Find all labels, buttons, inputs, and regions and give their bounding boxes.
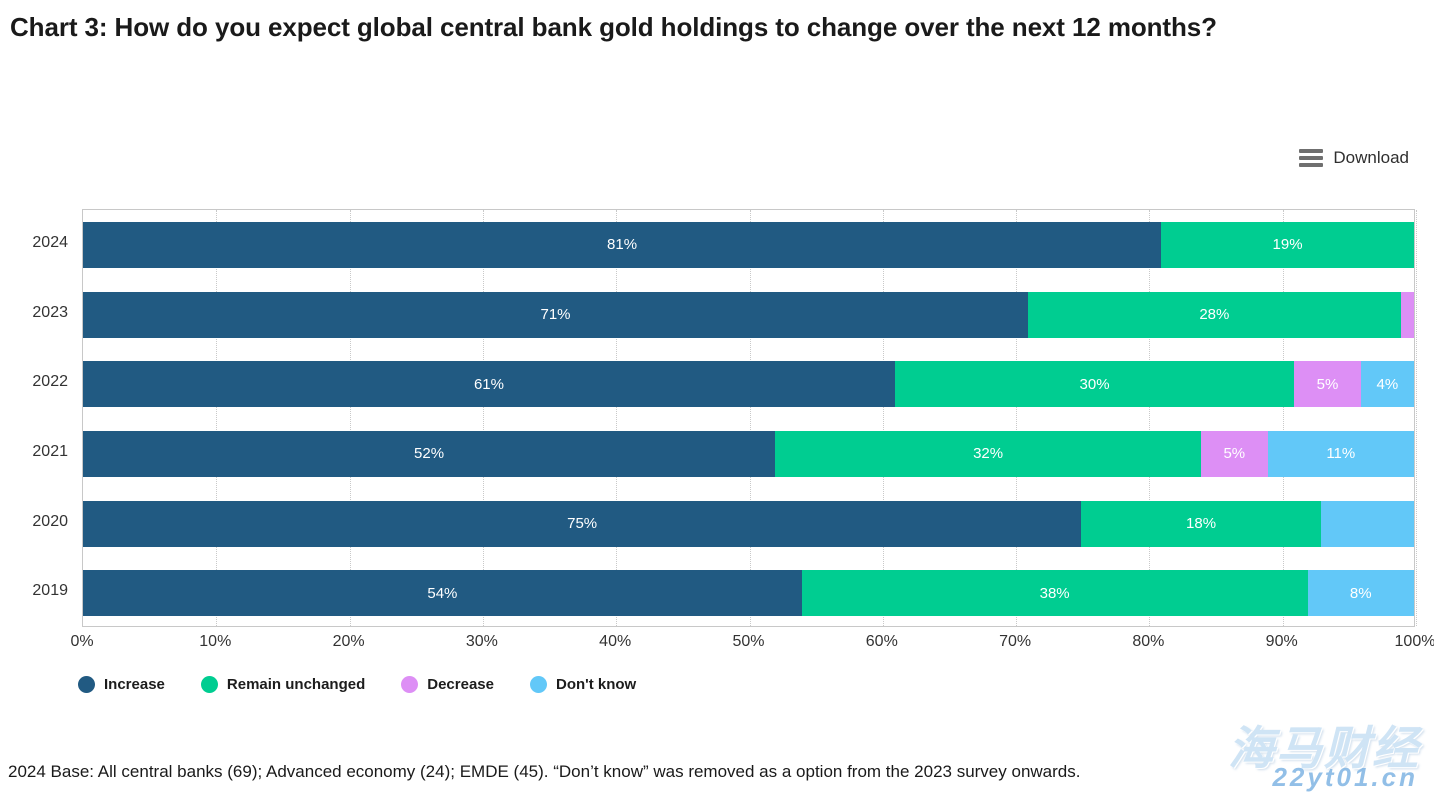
x-axis-tick-label: 0% [42, 633, 122, 651]
download-button-label: Download [1333, 148, 1409, 168]
legend-swatch-icon [78, 676, 95, 693]
x-axis-tick-label: 70% [975, 633, 1055, 651]
download-button[interactable]: Download [1299, 148, 1409, 168]
chart-page: Chart 3: How do you expect global centra… [0, 0, 1434, 796]
x-axis-tick-label: 10% [175, 633, 255, 651]
legend-item-label: Increase [104, 676, 165, 693]
bar-segment[interactable]: 19% [1161, 222, 1414, 268]
bar-segment[interactable]: 71% [83, 292, 1028, 338]
bar-row: 61%30%5%4% [83, 361, 1414, 407]
x-axis-tick-label: 20% [309, 633, 389, 651]
bar-segment[interactable]: 8% [1308, 570, 1414, 616]
bar-segment[interactable] [1401, 292, 1414, 338]
gridline [1416, 210, 1417, 626]
y-axis-tick-label: 2023 [0, 304, 68, 322]
legend-item[interactable]: Don't know [530, 676, 636, 693]
bar-row: 75%18% [83, 501, 1414, 547]
bar-segment[interactable]: 5% [1294, 361, 1361, 407]
bar-row: 71%28% [83, 292, 1414, 338]
chart-footnote: 2024 Base: All central banks (69); Advan… [8, 762, 1428, 782]
x-axis-tick-label: 50% [709, 633, 789, 651]
y-axis-tick-label: 2019 [0, 582, 68, 600]
legend-swatch-icon [401, 676, 418, 693]
bar-row: 54%38%8% [83, 570, 1414, 616]
bar-segment[interactable]: 61% [83, 361, 895, 407]
bar-rows: 81%19%71%28%61%30%5%4%52%32%5%11%75%18%5… [83, 210, 1414, 626]
page-title: Chart 3: How do you expect global centra… [10, 10, 1430, 44]
legend-item[interactable]: Increase [78, 676, 165, 693]
bar-segment[interactable]: 32% [775, 431, 1201, 477]
legend-item-label: Don't know [556, 676, 636, 693]
y-axis-tick-label: 2020 [0, 513, 68, 531]
legend-item[interactable]: Remain unchanged [201, 676, 365, 693]
bar-segment[interactable]: 52% [83, 431, 775, 477]
bar-segment[interactable]: 54% [83, 570, 802, 616]
y-axis-tick-label: 2022 [0, 373, 68, 391]
y-axis-tick-label: 2021 [0, 443, 68, 461]
bar-row: 52%32%5%11% [83, 431, 1414, 477]
bar-row: 81%19% [83, 222, 1414, 268]
x-axis-tick-label: 100% [1375, 633, 1434, 651]
bar-segment[interactable]: 11% [1268, 431, 1414, 477]
plot-area: 81%19%71%28%61%30%5%4%52%32%5%11%75%18%5… [82, 209, 1415, 627]
x-axis-tick-label: 80% [1108, 633, 1188, 651]
bar-segment[interactable]: 75% [83, 501, 1081, 547]
chart-legend: IncreaseRemain unchangedDecreaseDon't kn… [78, 676, 636, 693]
legend-swatch-icon [201, 676, 218, 693]
bar-segment[interactable]: 38% [802, 570, 1308, 616]
bar-segment[interactable]: 5% [1201, 431, 1268, 477]
bar-segment[interactable]: 30% [895, 361, 1294, 407]
legend-item-label: Remain unchanged [227, 676, 365, 693]
x-axis-tick-label: 30% [442, 633, 522, 651]
x-axis-tick-label: 40% [575, 633, 655, 651]
legend-item-label: Decrease [427, 676, 494, 693]
y-axis-tick-label: 2024 [0, 234, 68, 252]
legend-item[interactable]: Decrease [401, 676, 494, 693]
x-axis-tick-label: 60% [842, 633, 922, 651]
bar-segment[interactable] [1321, 501, 1414, 547]
x-axis-tick-label: 90% [1242, 633, 1322, 651]
bar-segment[interactable]: 18% [1081, 501, 1321, 547]
bar-segment[interactable]: 4% [1361, 361, 1414, 407]
legend-swatch-icon [530, 676, 547, 693]
bar-segment[interactable]: 28% [1028, 292, 1401, 338]
hamburger-menu-icon [1299, 149, 1323, 167]
bar-segment[interactable]: 81% [83, 222, 1161, 268]
